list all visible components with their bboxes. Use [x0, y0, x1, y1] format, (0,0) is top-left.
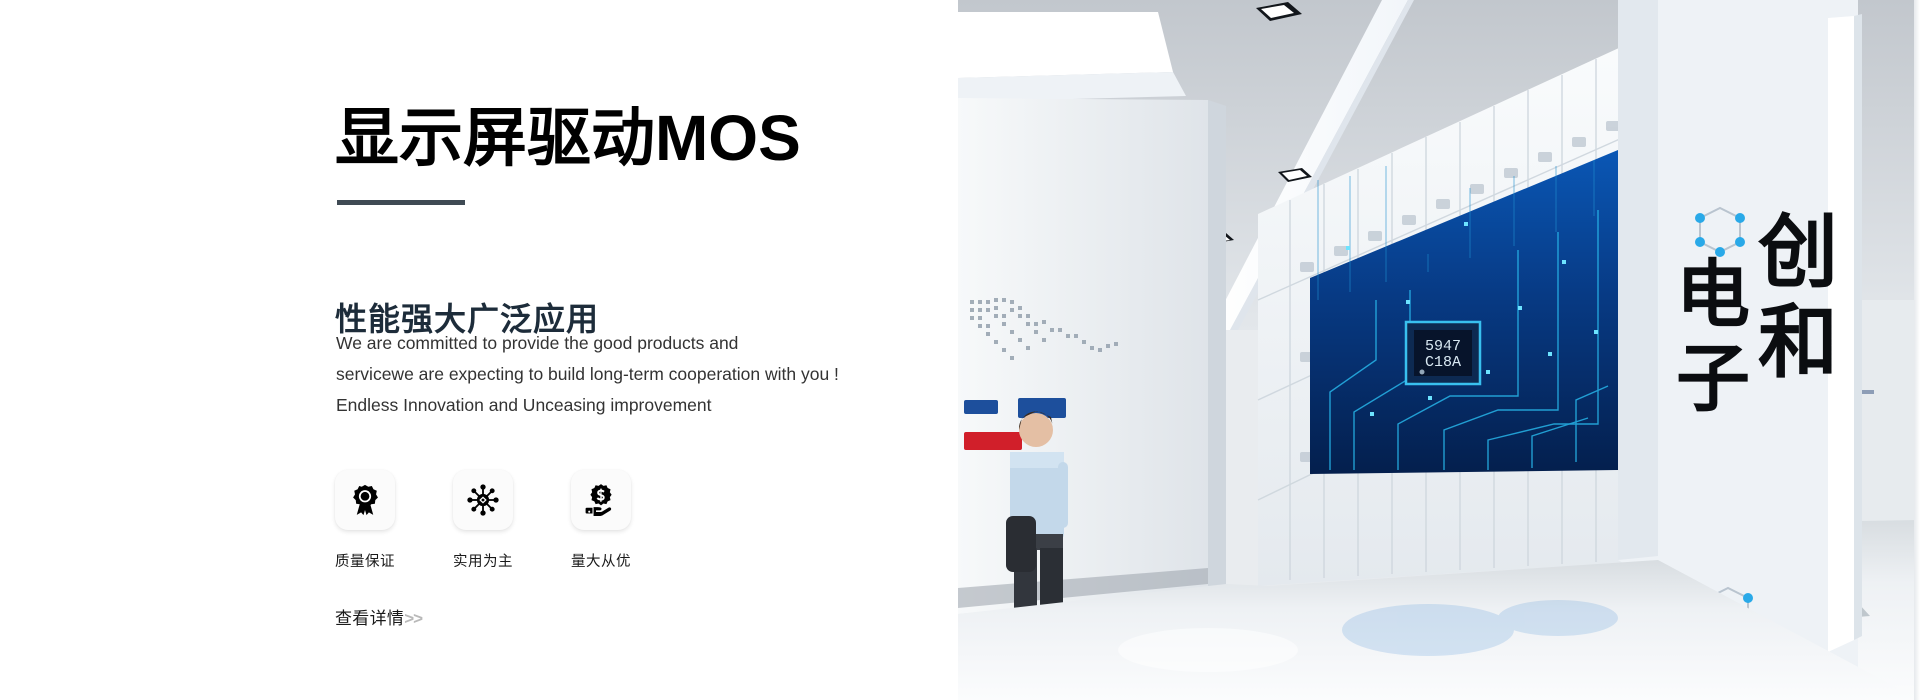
view-details-arrows: >> — [404, 609, 422, 628]
product-banner: 显示屏驱动MOS 性能强大广泛应用 We are committed to pr… — [0, 0, 1920, 700]
chip-label-line1: 5947 — [1425, 338, 1461, 355]
network-hub-icon — [466, 483, 500, 517]
wall-sign-char-3: 电 — [1676, 252, 1750, 338]
left-text-panel: 显示屏驱动MOS 性能强大广泛应用 We are committed to pr… — [0, 0, 958, 700]
banner-description: We are committed to provide the good pro… — [336, 328, 896, 421]
hand-money-icon — [584, 483, 618, 517]
feature-list: 质量保证 — [335, 470, 689, 571]
award-ribbon-icon-box — [335, 470, 395, 530]
view-details-label: 查看详情 — [335, 609, 404, 628]
award-ribbon-icon — [348, 483, 382, 517]
title-divider — [337, 200, 465, 205]
feature-item-practical[interactable]: 实用为主 — [453, 470, 571, 571]
network-hub-icon-box — [453, 470, 513, 530]
wall-sign-char-2: 和 — [1758, 296, 1838, 389]
feature-label-quality: 质量保证 — [335, 550, 453, 571]
wall-sign-char-1: 创 — [1758, 206, 1838, 299]
description-line-3: Endless Innovation and Unceasing improve… — [336, 390, 896, 421]
wall-sign-char-4: 子 — [1676, 336, 1750, 422]
feature-label-practical: 实用为主 — [453, 550, 571, 571]
chip-label-line2: C18A — [1425, 354, 1461, 371]
feature-item-quality[interactable]: 质量保证 — [335, 470, 453, 571]
page-title: 显示屏驱动MOS — [335, 105, 801, 172]
showroom-illustration: 5947 C18A 创 — [958, 0, 1920, 700]
feature-item-bulk-discount[interactable]: 量大从优 — [571, 470, 689, 571]
description-line-2: servicewe are expecting to build long-te… — [336, 359, 896, 390]
view-details-link[interactable]: 查看详情>> — [335, 604, 422, 629]
feature-label-bulk-discount: 量大从优 — [571, 550, 689, 571]
description-line-1: We are committed to provide the good pro… — [336, 328, 896, 359]
photo-right-edge — [1914, 0, 1920, 700]
showroom-photo: 5947 C18A 创 — [958, 0, 1920, 700]
hand-money-icon-box — [571, 470, 631, 530]
